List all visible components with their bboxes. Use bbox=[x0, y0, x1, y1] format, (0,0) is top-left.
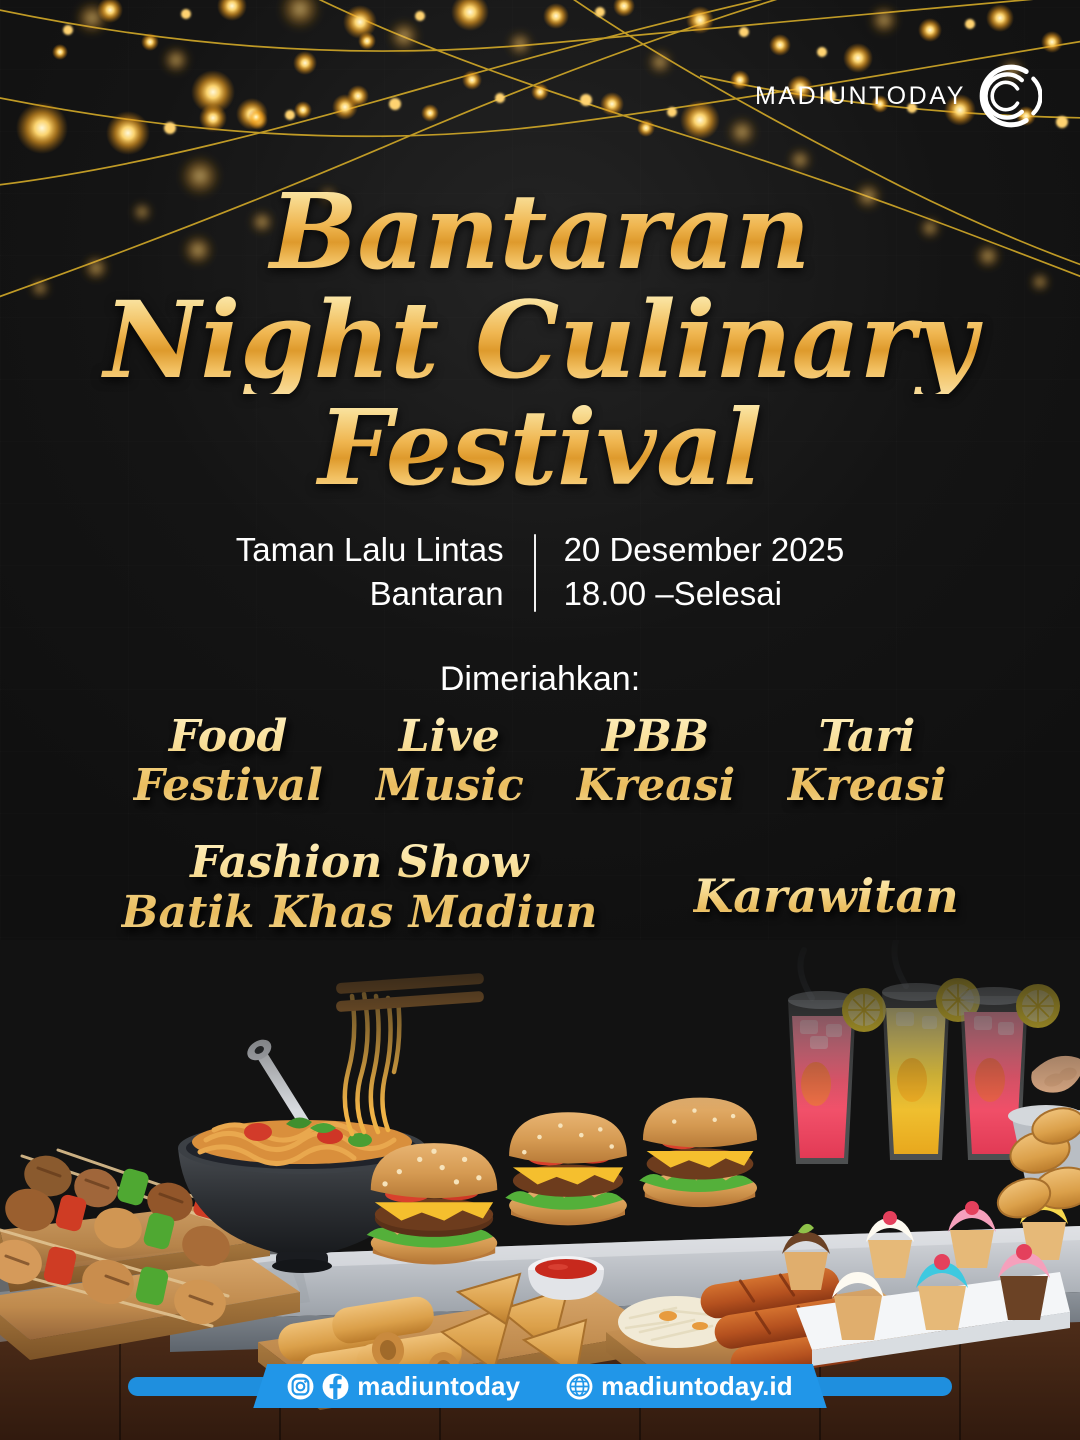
venue-line-1: Taman Lalu Lintas bbox=[236, 528, 504, 572]
lineup-item: Tari Kreasi bbox=[787, 712, 946, 811]
lineup-item: Fashion Show Batik Khas Madiun bbox=[121, 838, 597, 938]
instagram-icon[interactable] bbox=[287, 1373, 314, 1400]
brand-logo: MADIUNTODAY bbox=[755, 60, 1042, 132]
poster-canvas: MADIUNTODAY Bantaran Night Culinary Fest… bbox=[0, 0, 1080, 1440]
lineup-item: Food Festival bbox=[133, 712, 322, 811]
lineup-row-primary: Food Festival Live Music PBB Kreasi Tari… bbox=[0, 712, 1080, 811]
venue-block: Taman Lalu Lintas Bantaran bbox=[236, 528, 534, 616]
event-date: 20 Desember 2025 bbox=[564, 528, 845, 572]
event-time: 18.00 –Selesai bbox=[564, 572, 845, 616]
title-line-3: Festival bbox=[0, 394, 1080, 501]
lineup-item: Live Music bbox=[375, 712, 524, 811]
facebook-icon[interactable] bbox=[322, 1373, 349, 1400]
brand-logo-text: MADIUNTODAY bbox=[755, 82, 966, 111]
lineup-item: Karawitan bbox=[693, 870, 958, 922]
website-group[interactable]: madiuntoday.id bbox=[566, 1371, 793, 1402]
datetime-block: 20 Desember 2025 18.00 –Selesai bbox=[536, 528, 845, 616]
lineup-label: Dimeriahkan: bbox=[0, 660, 1080, 699]
event-title: Bantaran Night Culinary Festival bbox=[0, 178, 1080, 501]
event-info-row: Taman Lalu Lintas Bantaran 20 Desember 2… bbox=[0, 528, 1080, 616]
footer-contact-bar: madiuntoday madiuntoday.id bbox=[0, 1364, 1080, 1408]
venue-line-2: Bantaran bbox=[236, 572, 504, 616]
lineup-item: PBB Kreasi bbox=[576, 712, 735, 811]
globe-icon[interactable] bbox=[566, 1373, 593, 1400]
title-line-1: Bantaran bbox=[0, 178, 1080, 285]
social-handle-text: madiuntoday bbox=[357, 1371, 520, 1402]
crescent-swoosh-icon bbox=[970, 60, 1042, 132]
lineup-row-secondary: Fashion Show Batik Khas Madiun Karawitan bbox=[0, 838, 1080, 938]
social-group[interactable]: madiuntoday bbox=[287, 1371, 520, 1402]
footer-handles-panel: madiuntoday madiuntoday.id bbox=[253, 1364, 826, 1408]
title-line-2: Night Culinary bbox=[0, 285, 1080, 394]
website-text: madiuntoday.id bbox=[601, 1371, 793, 1402]
